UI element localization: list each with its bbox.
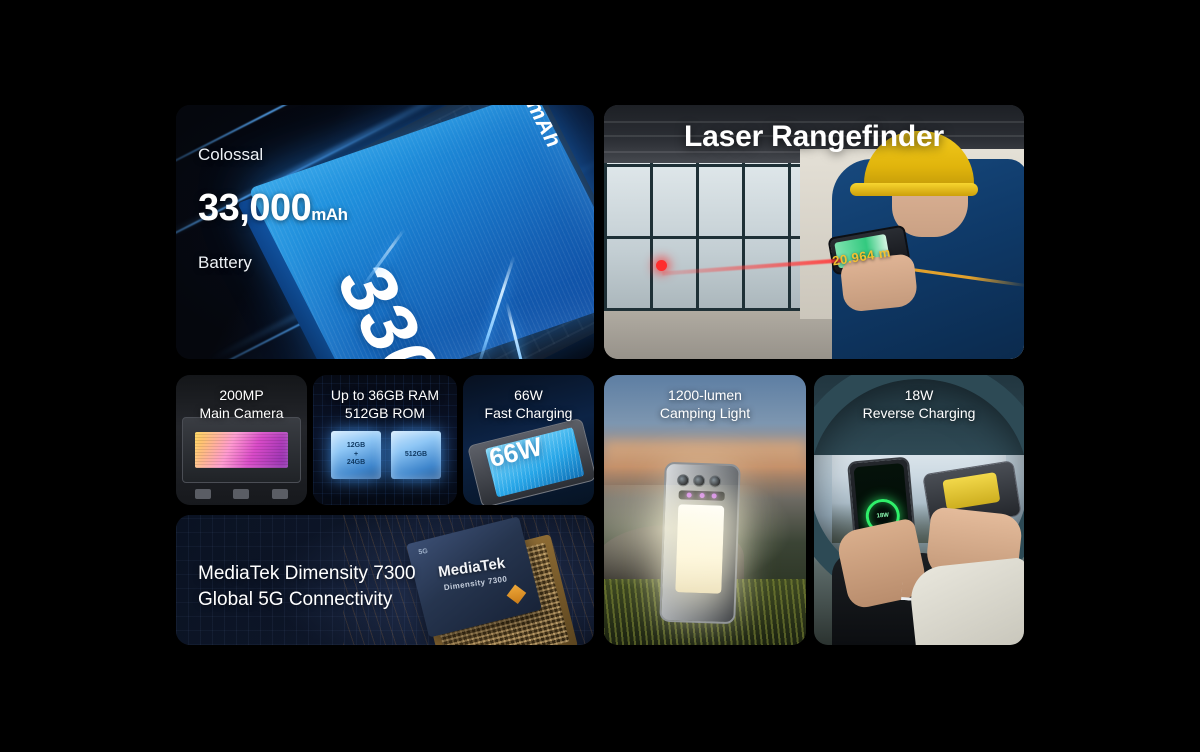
feature-card-battery[interactable]: 33000 mAh Colossal 33,000mAh Battery [176,105,594,359]
image-sensor [195,432,288,468]
contact-pads [184,489,299,501]
memory-caption: Up to 36GB RAM 512GB ROM [313,387,457,423]
battery-value: 33,000 [198,187,311,229]
feature-card-camera[interactable]: 200MP Main Camera [176,375,307,505]
battery-unit: mAh [311,205,347,224]
feature-grid: 33000 mAh Colossal 33,000mAh Battery [0,0,1200,752]
fast-charging-caption: 66W Fast Charging [463,387,594,423]
window-wall [604,163,800,311]
battery-value-row: 33,000mAh [198,185,348,231]
mediatek-logo-icon [507,584,527,604]
camping-light-caption: 1200-lumen Camping Light [604,387,806,423]
feature-card-camping-light[interactable]: 1200-lumen Camping Light [604,375,806,645]
rom-chip-label: 512GB [405,451,427,460]
ram-chip-label: 12GB + 24GB [347,442,365,468]
feature-card-rangefinder[interactable]: 20.964 m Laser Rangefinder [604,105,1024,359]
led-strip [679,490,725,501]
laser-target-dot-icon [656,260,667,271]
chipset-caption: MediaTek Dimensity 7300 Global 5G Connec… [198,561,416,613]
battery-eyebrow: Colossal [198,145,348,166]
feature-card-reverse-charging[interactable]: 18W 18W Reverse Charging [814,375,1024,645]
ram-chip: 12GB + 24GB [331,431,381,479]
rugged-phone-upright [659,462,741,625]
feature-card-chipset[interactable]: 5G MediaTek Dimensity 7300 MediaTek Dime… [176,515,594,645]
battery-caption: Colossal 33,000mAh Battery [198,125,348,293]
reverse-charging-caption: 18W Reverse Charging [814,387,1024,423]
battery-label: Battery [198,253,348,274]
sensor-housing [182,417,301,483]
camping-lamp-panel [675,504,724,594]
rangefinder-title: Laser Rangefinder [604,119,1024,156]
camera-caption: 200MP Main Camera [176,387,307,423]
feature-card-memory[interactable]: 12GB + 24GB 512GB Up to 36GB RAM 512GB R… [313,375,457,505]
feature-card-fast-charging[interactable]: 66W 66W Fast Charging [463,375,594,505]
rom-chip: 512GB [391,431,441,479]
camera-lenses-icon [677,474,721,488]
chip-5g-badge: 5G [418,548,428,556]
